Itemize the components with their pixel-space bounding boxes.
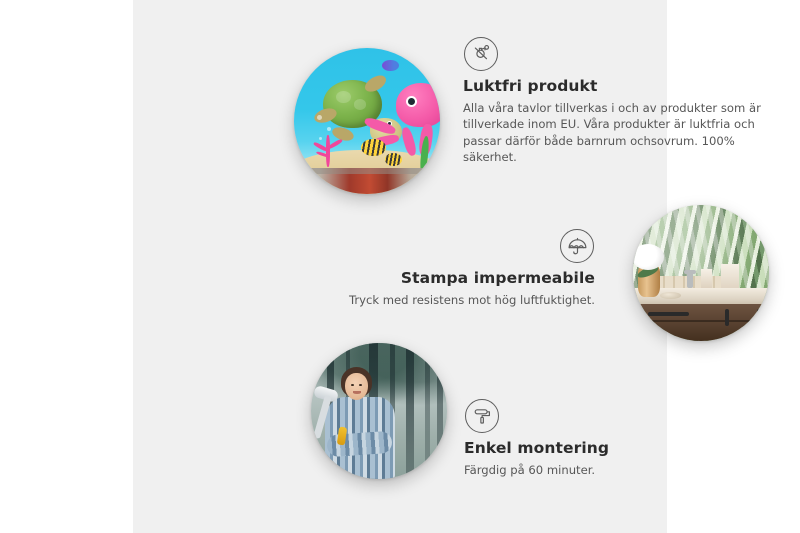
photo-bathroom-mural	[633, 205, 769, 341]
feature-title: Enkel montering	[464, 439, 724, 457]
feature-body: Färgdig på 60 minuter.	[464, 462, 724, 478]
yellow-striped-fish	[361, 139, 386, 157]
feature-body: Alla våra tavlor tillverkas i och av pro…	[463, 100, 763, 166]
content-panel: Luktfri produkt Alla våra tavlor tillver…	[133, 0, 667, 533]
cabinet-handle	[757, 309, 761, 326]
umbrella-icon	[560, 229, 594, 263]
octopus-head	[396, 83, 440, 127]
feature-waterproof: Stampa impermeabile Tryck med resistens …	[333, 229, 595, 308]
drawer-seam	[633, 320, 769, 322]
tree-trunk	[437, 343, 443, 479]
person-face	[345, 373, 368, 400]
photo-underwater-mural	[294, 48, 440, 194]
drawer-handle	[648, 312, 689, 316]
bathroom-scene	[633, 205, 769, 341]
wooden-vanity-cabinet	[633, 304, 769, 341]
tree-trunk	[425, 343, 430, 479]
feature-body: Tryck med resistens mot hög luftfuktighe…	[333, 292, 595, 308]
photo-installer	[311, 343, 447, 479]
infographic-page: Luktfri produkt Alla våra tavlor tillver…	[0, 0, 800, 533]
faucet	[687, 270, 692, 288]
pink-coral	[309, 130, 350, 171]
feature-title: Stampa impermeabile	[333, 269, 595, 287]
toiletry-bottle	[701, 269, 712, 289]
room-floor-strip	[294, 168, 440, 194]
feature-title: Luktfri produkt	[463, 77, 763, 95]
underwater-scene	[294, 48, 440, 194]
feature-odour-free: Luktfri produkt Alla våra tavlor tillver…	[463, 37, 763, 166]
soap-dish	[660, 292, 680, 299]
installer-scene	[311, 343, 447, 479]
eye	[351, 384, 354, 386]
no-perfume-spray-icon	[464, 37, 498, 71]
tree-trunk	[406, 343, 414, 479]
feature-easy-install: Enkel montering Färgdig på 60 minuter.	[464, 399, 724, 478]
smile	[353, 391, 361, 394]
eye	[359, 384, 362, 386]
octopus-eye	[406, 96, 417, 107]
cabinet-handle	[725, 309, 729, 326]
person-crossed-arms	[327, 431, 394, 457]
paint-roller-icon	[465, 399, 499, 433]
